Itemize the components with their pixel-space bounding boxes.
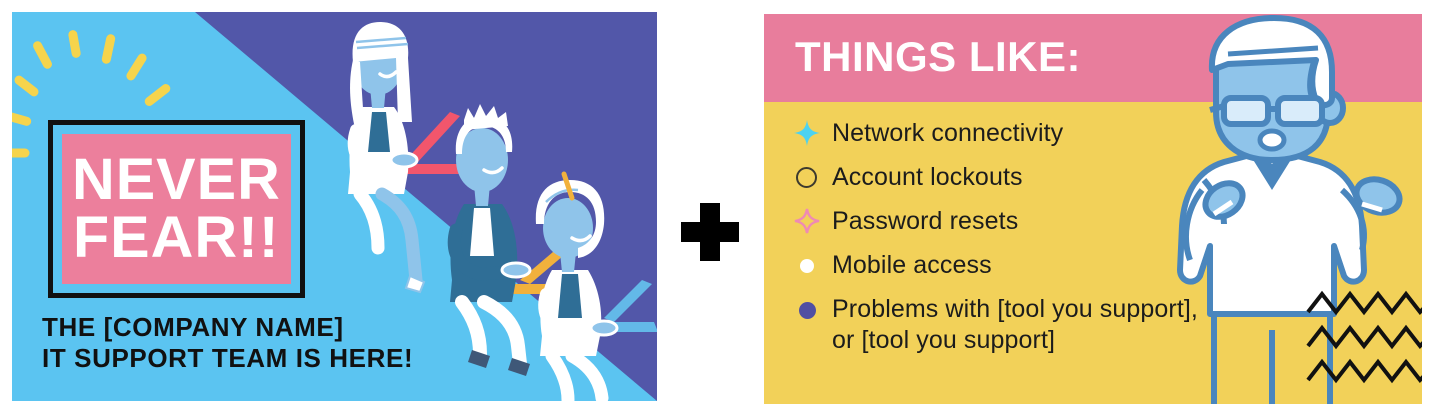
plus-sign-icon	[681, 203, 739, 261]
badge-line-1: NEVER	[72, 153, 281, 207]
list-item: Mobile access	[786, 250, 1226, 281]
never-fear-badge: NEVER FEAR!!	[48, 120, 305, 298]
bullet-marker	[786, 118, 832, 148]
plus-vertical-bar	[700, 203, 720, 261]
bullet-marker	[786, 294, 832, 324]
left-panel: NEVER FEAR!! THE [COMPANY NAME] IT SUPPO…	[12, 12, 657, 401]
zigzag-accent-lines	[1308, 290, 1422, 386]
tagline-line-1: THE [COMPANY NAME]	[42, 312, 642, 343]
list-item: Problems with [tool you support], or [to…	[786, 294, 1226, 356]
list-item-label: Network connectivity	[832, 118, 1063, 149]
right-panel-title: THINGS LIKE:	[795, 36, 1081, 78]
list-item-label: Problems with [tool you support], or [to…	[832, 294, 1226, 356]
list-item-label: Password resets	[832, 206, 1018, 237]
hollow-circle-icon	[796, 167, 817, 188]
slide-canvas: NEVER FEAR!! THE [COMPANY NAME] IT SUPPO…	[0, 0, 1434, 418]
cyan-four-point-star-icon	[794, 120, 820, 146]
purple-dot-icon	[799, 302, 816, 319]
pink-four-point-star-icon	[794, 208, 820, 234]
left-panel-tagline: THE [COMPANY NAME] IT SUPPORT TEAM IS HE…	[42, 312, 642, 373]
list-item: Account lockouts	[786, 162, 1226, 193]
right-panel: THINGS LIKE:	[764, 14, 1422, 404]
list-item: Password resets	[786, 206, 1226, 237]
bullet-marker	[786, 162, 832, 192]
never-fear-badge-inner: NEVER FEAR!!	[62, 134, 291, 284]
list-item: Network connectivity	[786, 118, 1226, 149]
bullet-marker	[786, 206, 832, 236]
list-item-label: Mobile access	[832, 250, 992, 281]
things-like-list: Network connectivity Account lockouts Pa…	[786, 118, 1226, 369]
white-dot-icon	[800, 259, 814, 273]
list-item-label: Account lockouts	[832, 162, 1023, 193]
bullet-marker	[786, 250, 832, 280]
badge-line-2: FEAR!!	[73, 211, 280, 265]
tagline-line-2: IT SUPPORT TEAM IS HERE!	[42, 343, 642, 374]
